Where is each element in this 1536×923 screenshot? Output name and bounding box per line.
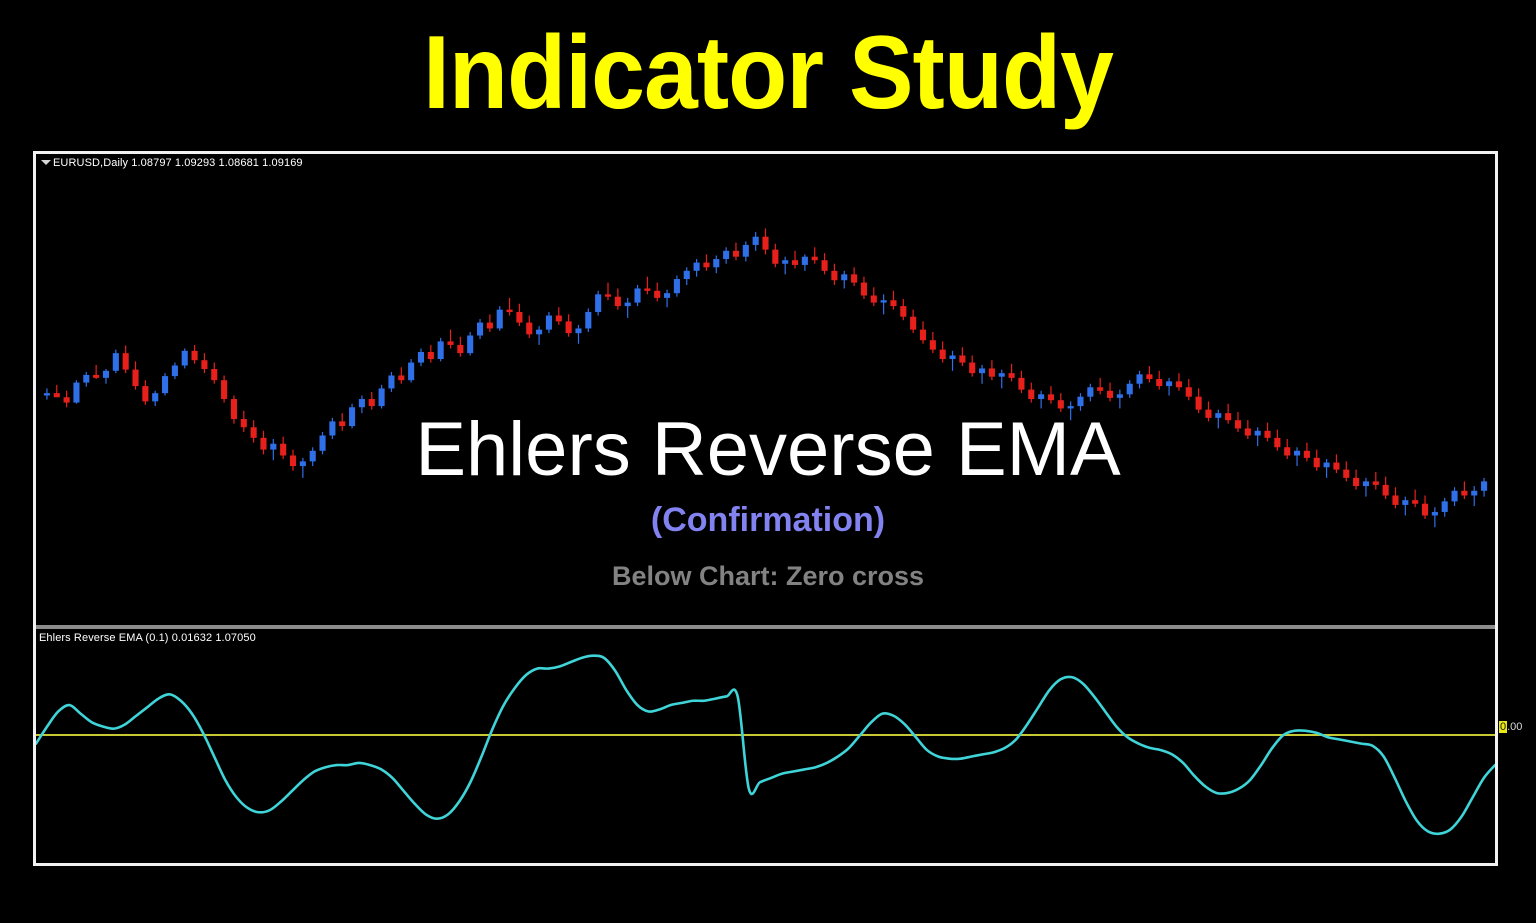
zero-price-tag: 0 .00 (1499, 721, 1522, 733)
chart-window[interactable]: EURUSD,Daily 1.08797 1.09293 1.08681 1.0… (33, 151, 1498, 866)
indicator-line-series (36, 629, 1495, 863)
zero-tag-highlight: 0 (1499, 721, 1507, 733)
page-title: Indicator Study (54, 8, 1482, 138)
chart-panes: EURUSD,Daily 1.08797 1.09293 1.08681 1.0… (36, 154, 1495, 863)
screenshot-root: Indicator Study EURUSD,Daily 1.08797 1.0… (0, 0, 1536, 923)
zero-tag-rest: .00 (1507, 721, 1522, 733)
price-chart-pane[interactable]: EURUSD,Daily 1.08797 1.09293 1.08681 1.0… (36, 154, 1495, 625)
candlestick-series (36, 154, 1495, 625)
indicator-label: Ehlers Reverse EMA (0.1) 0.01632 1.07050 (39, 632, 256, 645)
symbol-ohlc-label: EURUSD,Daily 1.08797 1.09293 1.08681 1.0… (53, 157, 303, 170)
indicator-pane[interactable]: Ehlers Reverse EMA (0.1) 0.01632 1.07050 (36, 629, 1495, 863)
